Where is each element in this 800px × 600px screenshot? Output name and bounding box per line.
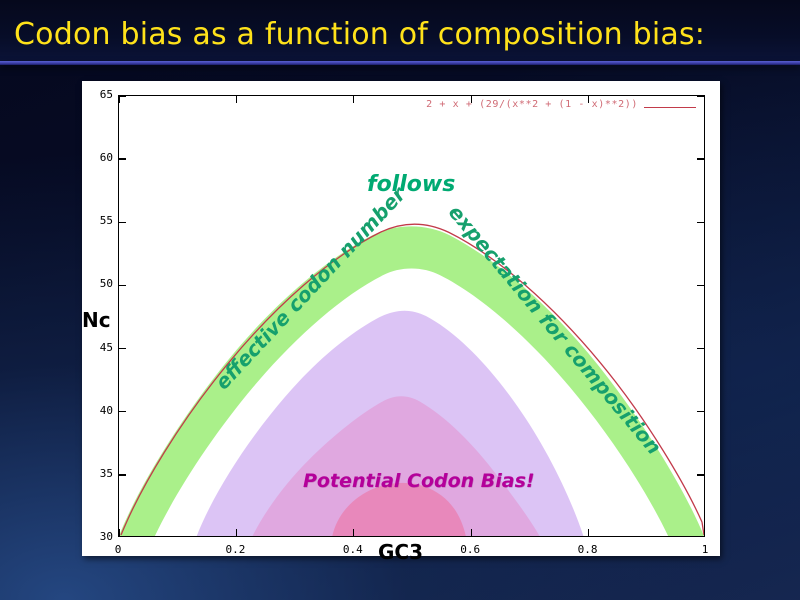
x-tick <box>471 529 472 536</box>
y-tick <box>119 285 126 286</box>
title-divider <box>0 61 800 65</box>
y-tick-label: 30 <box>100 530 113 543</box>
x-tick <box>588 529 589 536</box>
y-tick-label: 40 <box>100 404 113 417</box>
y-tick <box>697 285 704 286</box>
x-tick <box>236 96 237 103</box>
y-tick <box>697 474 704 475</box>
y-tick <box>119 348 126 349</box>
x-tick <box>118 96 119 103</box>
y-tick <box>119 95 126 96</box>
chart-canvas: Nc GC3 3035404550556065 00.20.40.60.81 <box>82 81 720 556</box>
legend-line-sample <box>644 107 696 108</box>
y-tick <box>697 158 704 159</box>
y-tick-label: 50 <box>100 277 113 290</box>
legend-label: 2 + x + (29/(x**2 + (1 - x)**2)) <box>426 99 638 110</box>
presentation-slide: Codon bias as a function of composition … <box>0 0 800 600</box>
x-tick-label: 1 <box>685 543 725 556</box>
y-tick <box>119 158 126 159</box>
x-tick <box>118 529 119 536</box>
plot-area: 2 + x + (29/(x**2 + (1 - x)**2)) effecti… <box>118 95 705 537</box>
x-tick-label: 0.2 <box>215 543 255 556</box>
y-tick <box>697 348 704 349</box>
y-tick <box>119 474 126 475</box>
y-tick-label: 45 <box>100 341 113 354</box>
x-tick-label: 0.4 <box>333 543 373 556</box>
x-tick <box>236 529 237 536</box>
y-tick <box>697 222 704 223</box>
y-tick <box>697 95 704 96</box>
y-tick <box>119 222 126 223</box>
chart-graphics <box>119 96 704 536</box>
y-tick-label: 60 <box>100 151 113 164</box>
x-tick <box>353 96 354 103</box>
x-tick-label: 0 <box>98 543 138 556</box>
y-tick <box>697 411 704 412</box>
y-axis-title: Nc <box>82 308 111 332</box>
x-axis-title: GC3 <box>378 540 423 564</box>
y-tick-label: 65 <box>100 88 113 101</box>
x-tick-label: 0.6 <box>450 543 490 556</box>
y-tick <box>119 411 126 412</box>
page-title: Codon bias as a function of composition … <box>14 18 705 52</box>
x-tick-label: 0.8 <box>568 543 608 556</box>
y-tick-label: 35 <box>100 467 113 480</box>
y-tick-label: 55 <box>100 214 113 227</box>
x-tick <box>353 529 354 536</box>
